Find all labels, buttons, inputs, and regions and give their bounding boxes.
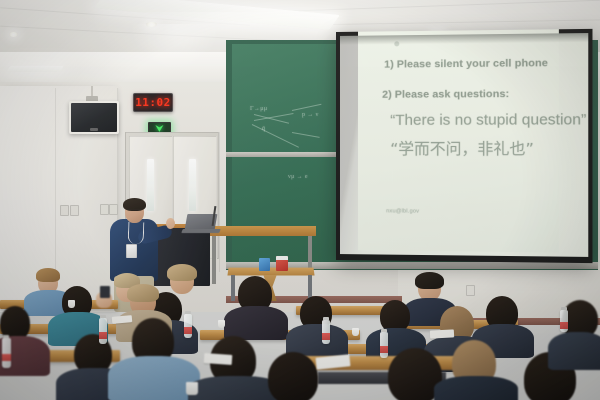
door-vision-panel [147,159,154,211]
chalk-stroke [292,132,320,138]
desk-leg [212,236,216,284]
chalk-note: Γ→μμ [250,106,268,112]
audience-hair [36,268,60,282]
audience-head [268,352,318,400]
wall-mounted-monitor [69,101,119,134]
wall-seam [219,132,220,272]
wall-outlet [109,204,118,215]
water-bottle [380,332,388,358]
red-box-lid [276,256,288,260]
audience-hair [127,284,159,302]
bottle-label [2,354,11,361]
slide-email-footer: nxu@lbl.gov [386,208,419,214]
chalk-stroke [292,104,322,111]
chalk-note: νμ → e [288,174,308,180]
bottle-label [99,332,107,339]
bottle-cap [323,317,329,320]
bottle-cap [100,315,106,318]
audience-shoulders [434,376,518,400]
bottle-cap [3,335,9,338]
wall-outlet [70,205,79,216]
water-bottle [2,338,11,368]
water-bottle [322,320,330,344]
presenter-hand [166,218,175,229]
front-desk [206,226,316,236]
bottle-label [380,346,388,353]
presenter-glasses [127,209,142,213]
chalk-note: p → ν [302,112,319,118]
audience-shoulders [548,332,600,370]
paper-cup [68,300,75,308]
laptop-base [181,229,221,233]
bottle-cap [185,311,191,314]
wall-outlet [60,205,69,216]
chalk-tray [226,152,346,157]
lanyard [128,222,145,245]
bottle-label [560,322,568,329]
chalk-stroke [252,124,299,148]
paper-cup [186,382,198,395]
bottle-cap [561,307,567,310]
audience-hair [415,272,444,289]
monitor-brand-logo [90,128,98,131]
demo-table-leg [231,275,235,301]
projection-screen: 1) Please silent your cell phone 2) Plea… [336,29,592,263]
fluorescent-strip-light [6,66,64,72]
paper-handout [430,329,454,338]
water-bottle [184,314,192,338]
water-bottle [99,318,107,344]
paper-cup [352,328,359,336]
digital-wall-clock: 11:02 [133,93,173,112]
clock-time-display: 11:02 [135,96,171,109]
wall-seam [55,88,56,300]
slide-bullet-1: 1) Please silent your cell phone [384,57,548,71]
water-bottle [560,310,568,332]
wall-outlet [466,285,475,296]
door-vision-panel [189,159,196,211]
bottle-label [322,333,330,340]
downlight [146,22,157,27]
demo-table-top [227,268,314,276]
blue-box [259,258,270,271]
bottle-label [184,327,192,334]
audience-shoulders [224,306,288,340]
slide-quote-english: “There is no stupid question” [390,111,586,129]
projected-slide-area: 1) Please silent your cell phone 2) Plea… [358,29,559,252]
audience-hair [167,264,197,281]
lecture-hall-photo: 11:02 ⮟ Γ→μμ q̄ p → ν T ≈ 3 νμ → e [0,0,600,400]
slide-quote-chinese: “学而不问，非礼也” [390,137,534,159]
name-badge [126,244,137,258]
downlight [9,32,18,37]
phone [100,286,110,298]
bottle-cap [381,329,387,332]
paper-cup [218,320,225,328]
paper-handout [204,353,233,365]
slide-bullet-2: 2) Please ask questions: [382,88,509,101]
wall-outlet [100,204,109,215]
